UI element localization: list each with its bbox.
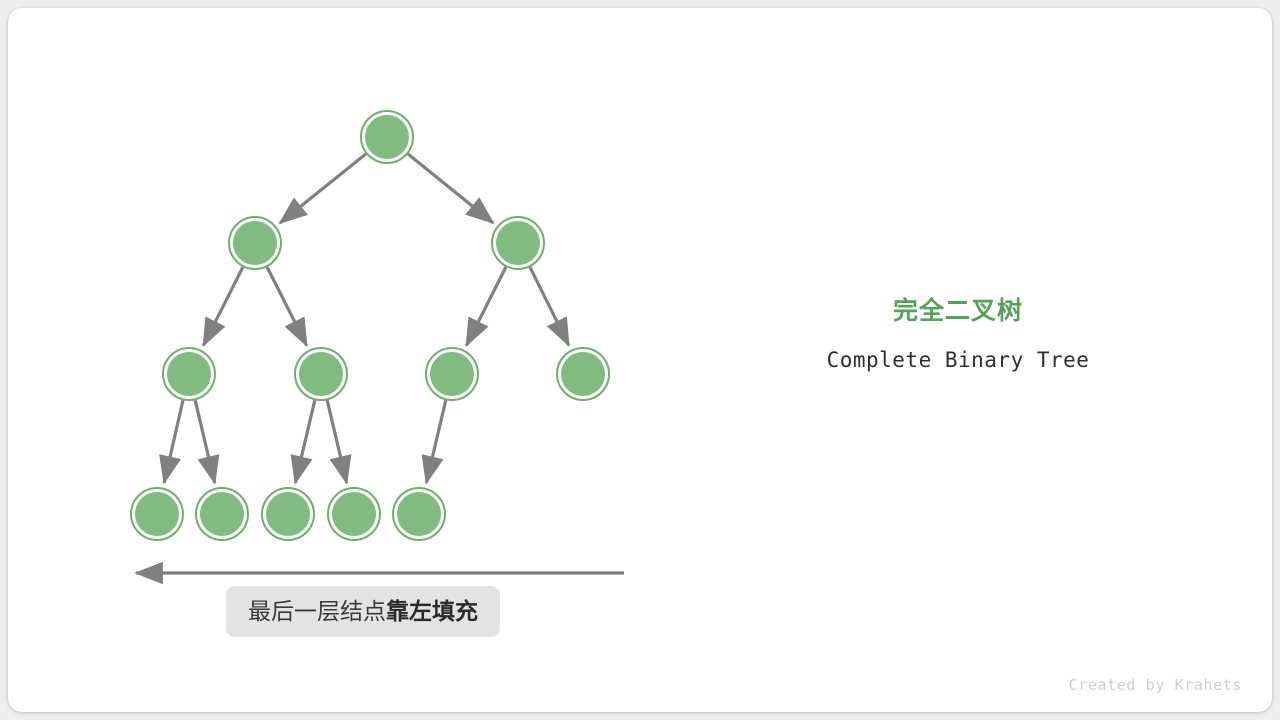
- legend-title: 完全二叉树: [768, 294, 1148, 328]
- tree-edge: [327, 400, 346, 483]
- tree-edge: [426, 400, 445, 483]
- tree-node-fill: [266, 492, 310, 536]
- tree-node[interactable]: [426, 348, 478, 400]
- diagram-card: 完全二叉树 Complete Binary Tree 最后一层结点靠左填充 Cr…: [8, 8, 1272, 712]
- tree-node[interactable]: [557, 348, 609, 400]
- tree-node-fill: [496, 221, 540, 265]
- tree-edge: [280, 154, 366, 223]
- tree-node-fill: [200, 492, 244, 536]
- legend-block: 完全二叉树 Complete Binary Tree: [768, 294, 1148, 375]
- tree-edge: [466, 267, 505, 345]
- tree-node-fill: [135, 492, 179, 536]
- tree-node[interactable]: [163, 348, 215, 400]
- tree-node-fill: [332, 492, 376, 536]
- tree-node[interactable]: [229, 217, 281, 269]
- tree-node-fill: [233, 221, 277, 265]
- tree-node-fill: [299, 352, 343, 396]
- tree-node[interactable]: [295, 348, 347, 400]
- tree-edges: [164, 154, 569, 483]
- tree-node[interactable]: [492, 217, 544, 269]
- credit-label: Created by Krahets: [1069, 676, 1242, 694]
- tree-node[interactable]: [196, 488, 248, 540]
- tree-edge: [530, 267, 569, 345]
- tree-node[interactable]: [393, 488, 445, 540]
- tree-node-fill: [561, 352, 605, 396]
- tree-edge: [203, 267, 242, 345]
- tree-node-fill: [430, 352, 474, 396]
- tree-node-fill: [167, 352, 211, 396]
- tree-edge: [295, 400, 314, 483]
- tree-node[interactable]: [262, 488, 314, 540]
- tree-edge: [408, 154, 493, 223]
- annotation-text-normal: 最后一层结点: [248, 598, 386, 624]
- tree-nodes: [131, 111, 609, 540]
- tree-node[interactable]: [328, 488, 380, 540]
- tree-node[interactable]: [131, 488, 183, 540]
- legend-subtitle: Complete Binary Tree: [768, 345, 1148, 375]
- tree-edge: [195, 400, 214, 483]
- tree-node[interactable]: [361, 111, 413, 163]
- tree-node-fill: [365, 115, 409, 159]
- annotation-badge: 最后一层结点靠左填充: [226, 586, 500, 637]
- tree-edge: [267, 267, 306, 345]
- tree-edge: [164, 400, 183, 482]
- tree-node-fill: [397, 492, 441, 536]
- annotation-text-bold: 靠左填充: [386, 598, 478, 624]
